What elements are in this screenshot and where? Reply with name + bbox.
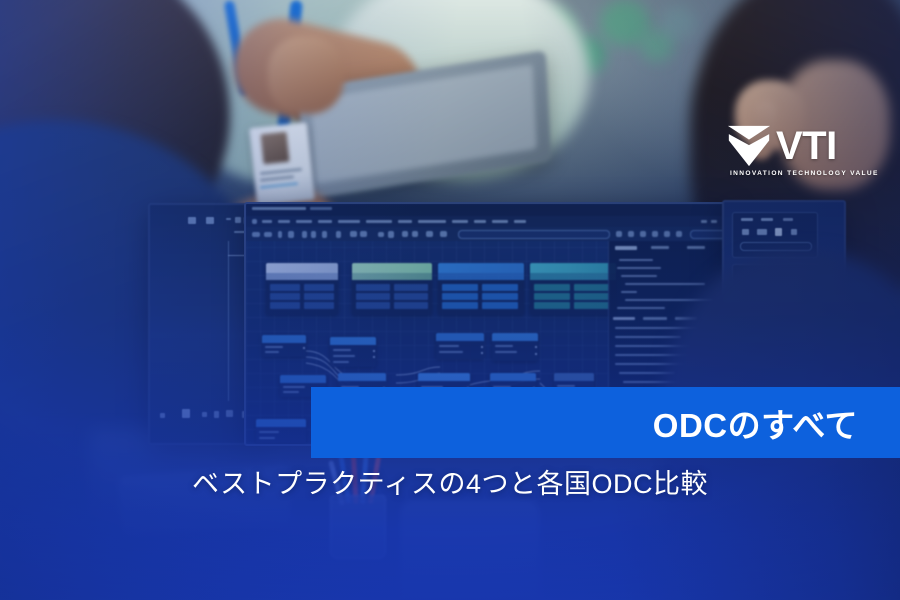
graph-node[interactable]	[262, 335, 306, 357]
ui-search-field[interactable]	[458, 230, 610, 239]
page-title: ODCのすべて	[653, 399, 900, 447]
pen-holder	[330, 495, 386, 559]
promo-banner-image: VTI INNOVATION TECHNOLOGY VALUE ODCのすべて …	[0, 0, 900, 600]
page-subtitle: ベストプラクティスの4つと各国ODC比較	[0, 462, 900, 501]
graph-node[interactable]	[330, 337, 376, 367]
vti-wordmark: VTI	[776, 126, 837, 166]
ui-menubar	[246, 216, 726, 227]
ui-toolbar[interactable]	[246, 227, 726, 241]
graph-panel[interactable]	[266, 263, 338, 315]
person-center-hand	[268, 36, 344, 114]
graph-panel[interactable]	[530, 263, 616, 315]
background-photograph	[0, 0, 900, 600]
graph-node[interactable]	[492, 333, 538, 361]
title-banner: ODCのすべて	[311, 387, 900, 458]
id-badge-photo	[261, 132, 290, 165]
chair-backrest	[400, 500, 540, 600]
vti-v-mark-icon	[726, 124, 772, 168]
graph-node[interactable]	[256, 419, 306, 443]
ui-titlebar	[246, 204, 726, 216]
bokeh-light	[660, 6, 696, 40]
graph-panel[interactable]	[352, 263, 432, 315]
graph-panel[interactable]	[438, 263, 524, 315]
vti-logo: VTI INNOVATION TECHNOLOGY VALUE	[726, 124, 858, 186]
graph-node[interactable]	[436, 333, 484, 359]
vti-tagline: INNOVATION TECHNOLOGY VALUE	[730, 170, 858, 177]
